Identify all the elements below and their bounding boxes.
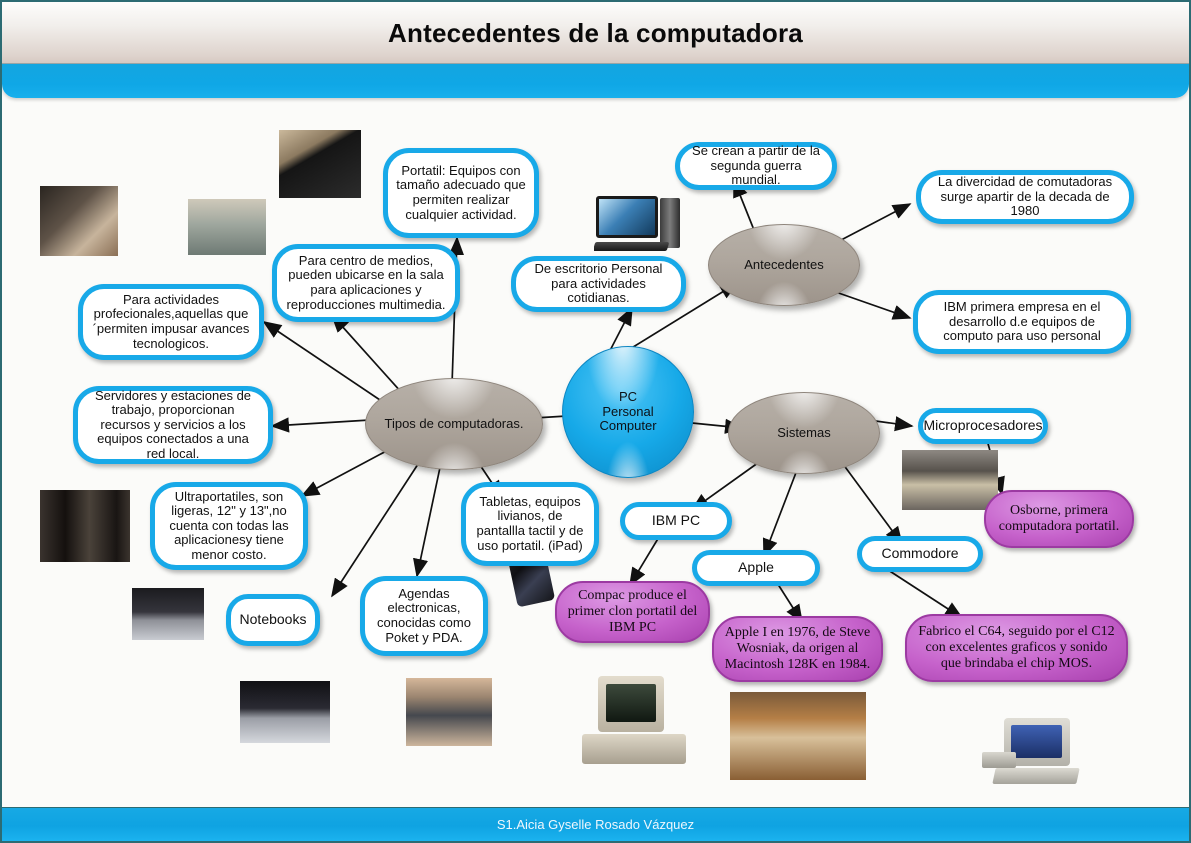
box-ibm-primera-empresa[interactable]: IBM primera empresa en el desarrollo d.e… (913, 290, 1131, 354)
photo-macbook (279, 130, 361, 198)
node-tipos-de-computadoras[interactable]: Tipos de computadoras. (365, 378, 543, 470)
box-tabletas[interactable]: Tabletas, equipos livianos, de pantallla… (461, 482, 599, 566)
box-microprocesadores[interactable]: Microprocesadores (918, 408, 1048, 444)
box-notebooks[interactable]: Notebooks (226, 594, 320, 646)
photo-osborne (902, 450, 998, 510)
box-actividades-profesionales[interactable]: Para actividades profecionales,aquellas … (78, 284, 264, 360)
box-ultraportatiles[interactable]: Ultraportatiles, son ligeras, 12" y 13",… (150, 482, 308, 570)
edge-tipos-servidores (272, 420, 370, 426)
photo-typing (40, 186, 118, 256)
node-pc-personal-computer[interactable]: PC Personal Computer (562, 346, 694, 478)
box-apple-i-1976[interactable]: Apple I en 1976, de Steve Wosniak, da or… (712, 616, 883, 682)
header-accent-bar (2, 64, 1189, 98)
photo-lab (188, 199, 266, 255)
edge-tipos-medios (332, 315, 402, 393)
box-segunda-guerra-mundial[interactable]: Se crean a partir de la segunda guerra m… (675, 142, 837, 190)
mindmap-page: Antecedentes de la computadora (0, 0, 1191, 843)
edge-sis-apple (764, 470, 797, 556)
box-de-escritorio[interactable]: De escritorio Personal para actividades … (511, 256, 686, 312)
box-osborne[interactable]: Osborne, primera computadora portatil. (984, 490, 1134, 548)
photo-commodore (974, 718, 1082, 790)
edge-tipos-ultra (302, 448, 392, 496)
box-fabrico-c64[interactable]: Fabrico el C64, seguido por el C12 con e… (905, 614, 1128, 682)
photo-servers (40, 490, 130, 562)
edge-ante-ibm (830, 290, 910, 318)
box-servidores[interactable]: Servidores y estaciones de trabajo, prop… (73, 386, 273, 464)
box-ibm-pc[interactable]: IBM PC (620, 502, 732, 540)
photo-oldpc (580, 676, 688, 768)
footer-band: S1.Aicia Gyselle Rosado Vázquez (2, 807, 1189, 841)
header-band: Antecedentes de la computadora (2, 2, 1189, 64)
edge-tipos-profesional (264, 322, 380, 400)
photo-netbook (132, 588, 204, 640)
box-portatil[interactable]: Portatil: Equipos con tamaño adecuado qu… (383, 148, 539, 238)
diagram-canvas: PC Personal Computer Tipos de computador… (2, 98, 1189, 811)
photo-pda (406, 678, 492, 746)
box-divercidad-computadoras[interactable]: La divercidad de comutadoras surge apart… (916, 170, 1134, 224)
photo-apple-i (730, 692, 866, 780)
page-title: Antecedentes de la computadora (2, 18, 1189, 49)
box-compac-clon[interactable]: Compac produce el primer clon portatil d… (555, 581, 710, 643)
edge-tipos-agendas (417, 458, 442, 576)
footer-author: S1.Aicia Gyselle Rosado Vázquez (497, 817, 694, 832)
box-centro-de-medios[interactable]: Para centro de medios, pueden ubicarse e… (272, 244, 460, 322)
edge-commodore-c64 (882, 566, 962, 618)
box-agendas-electronicas[interactable]: Agendas electronicas, conocidas como Pok… (360, 576, 488, 656)
box-apple[interactable]: Apple (692, 550, 820, 586)
node-antecedentes[interactable]: Antecedentes (708, 224, 860, 306)
node-sistemas[interactable]: Sistemas (728, 392, 880, 474)
photo-desktop (594, 196, 686, 258)
box-commodore[interactable]: Commodore (857, 536, 983, 572)
photo-laptop (240, 681, 330, 743)
edge-sis-commodore (840, 460, 902, 544)
